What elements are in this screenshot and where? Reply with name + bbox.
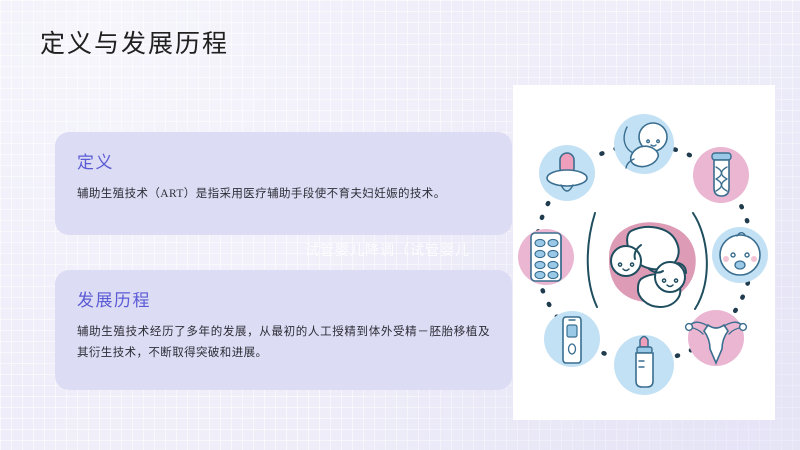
pregnancy-test-icon bbox=[544, 311, 600, 367]
card-body-definition: 辅助生殖技术（ART）是指采用医疗辅助手段使不育夫妇妊娠的技术。 bbox=[77, 184, 490, 205]
watermark-text: 试管婴儿降调（试管婴儿 bbox=[305, 240, 470, 260]
baby-bottle-icon bbox=[614, 335, 674, 395]
fetus-icon bbox=[614, 114, 674, 174]
card-heading-definition: 定义 bbox=[77, 150, 490, 176]
content-card-definition: 定义 辅助生殖技术（ART）是指采用医疗辅助手段使不育夫妇妊娠的技术。 bbox=[55, 132, 512, 235]
page-title: 定义与发展历程 bbox=[40, 28, 229, 62]
pill-blister-pack-icon bbox=[518, 229, 574, 285]
content-card-history: 发展历程 辅助生殖技术经历了多年的发展，从最初的人工授精到体外受精－胚胎移植及其… bbox=[55, 270, 512, 390]
illustration-panel: .ln { fill:none; stroke:#1f4e5f; stroke-… bbox=[513, 85, 775, 420]
pacifier-icon bbox=[539, 145, 595, 201]
card-body-history: 辅助生殖技术经历了多年的发展，从最初的人工授精到体外受精－胚胎移植及其衍生技术，… bbox=[77, 322, 490, 364]
baby-face-icon bbox=[712, 227, 768, 283]
slide-root: 定义与发展历程 定义 辅助生殖技术（ART）是指采用医疗辅助手段使不育夫妇妊娠的… bbox=[0, 0, 800, 450]
dna-test-tube-icon bbox=[693, 147, 749, 203]
card-heading-history: 发展历程 bbox=[77, 288, 490, 314]
assisted-reproduction-illustration: .ln { fill:none; stroke:#1f4e5f; stroke-… bbox=[513, 85, 775, 420]
